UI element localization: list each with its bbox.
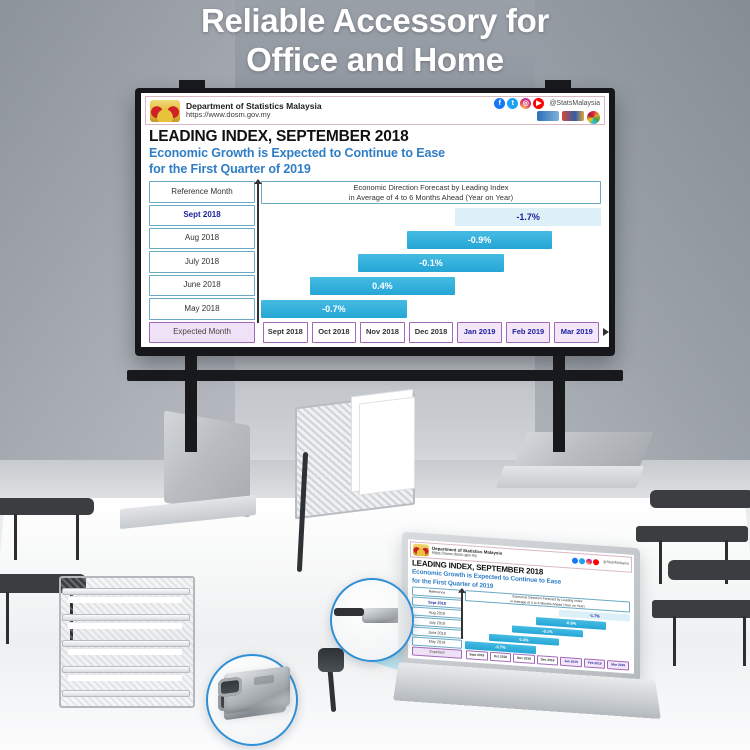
chair-seat — [652, 600, 750, 618]
forecast-bar: -0.1% — [358, 254, 504, 272]
malaysia-coat-of-arms-icon — [413, 543, 429, 556]
twitter-icon[interactable]: t — [507, 98, 518, 109]
laptop-foreground: Department of Statistics Malaysia https:… — [396, 540, 666, 740]
tray-paper — [68, 674, 182, 681]
mesh-file-holder — [295, 393, 415, 520]
organizer-tray — [62, 588, 190, 595]
reference-month-cell: June 2018 — [149, 275, 255, 296]
laptop-base — [496, 466, 644, 488]
chair-leg — [6, 592, 9, 644]
tv-stand-post-right — [553, 356, 565, 452]
social-handle: @StatsMalaysia — [603, 561, 629, 566]
x-tick-month: Nov 2018 — [366, 328, 399, 336]
laptop-lid: Department of Statistics Malaysia https:… — [402, 532, 640, 683]
forecast-bar: -0.7% — [261, 300, 407, 318]
reference-header-line-1: Reference — [171, 188, 208, 197]
laptop-on-desk-right — [500, 432, 650, 502]
laptop-port-edge — [398, 584, 414, 662]
slide-header-titles: Department of Statistics Malaysia https:… — [186, 101, 494, 120]
forecast-bar: 0.4% — [310, 277, 456, 295]
chair-leg — [14, 514, 17, 560]
facebook-icon[interactable]: f — [494, 98, 505, 109]
tv-stand-crossbar — [127, 370, 623, 381]
y-axis-line — [257, 183, 259, 323]
reference-month-cell: July 2018 — [149, 251, 255, 272]
instagram-icon — [586, 559, 592, 565]
tray-paper — [68, 622, 182, 629]
x-axis-tick: Dec 2018 — [537, 655, 559, 665]
forecast-bar: -1.7% — [455, 208, 601, 226]
social-icon-row: @StatsMalaysia — [572, 558, 629, 568]
twitter-icon — [579, 558, 585, 564]
x-tick-month: Mar 2019 — [561, 328, 593, 336]
x-axis-tick: Nov 2018 — [513, 654, 535, 664]
laptop-screen: Department of Statistics Malaysia https:… — [408, 539, 634, 674]
x-tick-month: Sept 2018 — [469, 653, 484, 657]
partner-logo-2-icon — [562, 111, 584, 121]
laptop-chart-area: Reference Sept 2018 Aug 2018 July 2018 J… — [410, 586, 632, 671]
slide-header: Department of Statistics Malaysia https:… — [145, 96, 605, 125]
organizer-tray — [62, 640, 190, 647]
plot-legend-line-1: Economic Direction Forecast by Leading I… — [353, 183, 508, 193]
chair-right-near — [652, 560, 750, 664]
organizer-tray — [62, 614, 190, 621]
bar-row: -0.1% — [261, 253, 601, 274]
slide-title: LEADING INDEX, SEPTEMBER 2018 — [149, 129, 605, 145]
x-axis-tick: Sept 2018 — [263, 322, 308, 343]
sdg-wheel-icon — [587, 111, 600, 124]
plot-legend: Economic Direction Forecast by Leading I… — [261, 181, 601, 204]
tray-paper — [68, 596, 182, 603]
plot-column: Economic Direction Forecast by Leading I… — [261, 181, 601, 343]
x-tick-month: Feb 2019 — [512, 328, 544, 336]
x-axis-tick: Nov 2018 — [360, 322, 405, 343]
reference-month-column: Reference Sept 2018 Aug 2018 July 2018 J… — [412, 587, 462, 659]
x-axis-tick: Jan 2019 — [560, 657, 582, 667]
adapter-cable — [334, 608, 364, 616]
tv-assembly: Department of Statistics Malaysia https:… — [135, 88, 615, 388]
slide-subtitle-line-1: Economic Growth is Expected to Continue … — [149, 146, 605, 161]
chair-left-far — [0, 498, 99, 578]
x-axis-month-row: Sept 2018 Oct 2018 Nov 2018 Dec 2018 — [261, 322, 601, 343]
reference-month-cell: May 2018 — [149, 298, 255, 319]
expected-month-header: Expected Month — [149, 322, 255, 343]
social-handle: @StatsMalaysia — [549, 100, 600, 107]
partner-logo-1-icon — [537, 111, 559, 121]
x-tick-month: Jan 2019 — [564, 660, 577, 664]
x-tick-month: Mar 2019 — [611, 663, 625, 667]
reference-month-column: Reference Month Sept 2018 Aug 2018 July … — [149, 181, 255, 343]
x-tick-month: Oct 2018 — [318, 328, 349, 336]
laptop-lid — [512, 432, 653, 470]
page-headline: Reliable Accessory for Office and Home — [0, 2, 750, 79]
forecast-bar: -0.9% — [407, 231, 553, 249]
organizer-tray — [62, 666, 190, 673]
x-tick-month: Sept 2018 — [268, 328, 303, 336]
reference-month-cell: Aug 2018 — [149, 228, 255, 249]
youtube-icon[interactable]: ▶ — [533, 98, 544, 109]
tv-bezel: Department of Statistics Malaysia https:… — [135, 88, 615, 356]
tray-paper — [68, 648, 182, 655]
chair-leg — [673, 616, 676, 666]
headline-line-2: Office and Home — [0, 41, 750, 80]
x-tick-month: Dec 2018 — [415, 328, 448, 336]
dosm-slide: Department of Statistics Malaysia https:… — [141, 93, 609, 347]
reference-header-line-2: Month — [210, 188, 232, 197]
expected-header-line-1: Expected — [430, 650, 445, 655]
organization-url: https://www.dosm.gov.my — [186, 111, 494, 120]
x-axis-tick: Dec 2018 — [409, 322, 454, 343]
headline-line-1: Reliable Accessory for — [0, 2, 750, 41]
mesh-paper-tray-organizer — [62, 580, 192, 720]
reference-month-cell: Sept 2018 — [149, 205, 255, 226]
chair-backrest — [0, 498, 94, 515]
usb-c-female-port — [218, 677, 242, 698]
plot-column: Economic Direction Forecast by Leading I… — [465, 590, 630, 670]
x-tick-month: Feb 2019 — [588, 662, 602, 666]
reference-header-line-1: Reference — [429, 590, 446, 595]
y-axis-line — [461, 592, 463, 639]
malaysia-coat-of-arms-icon — [150, 100, 180, 122]
rack-document — [359, 397, 415, 496]
x-tick-month: Dec 2018 — [541, 658, 555, 662]
laptop-social-block: @StatsMalaysia — [572, 558, 629, 568]
slide-subtitle-line-2: for the First Quarter of 2019 — [149, 162, 605, 177]
bar-row: -0.9% — [261, 229, 601, 250]
bar-row: -0.7% — [261, 299, 601, 320]
chair-backrest — [650, 490, 750, 508]
social-block: f t ◎ ▶ @StatsMalaysia — [494, 98, 600, 124]
facebook-icon — [572, 558, 578, 564]
chair-leg — [76, 514, 79, 560]
x-axis-tick: Sept 2018 — [466, 650, 488, 660]
x-axis-tick: Mar 2019 — [554, 322, 599, 343]
tv-stand-post-left — [185, 356, 197, 452]
chair-backrest — [668, 560, 750, 580]
expected-header-line-1: Expected — [173, 328, 206, 337]
x-axis-tick: Feb 2019 — [584, 659, 606, 669]
hdmi-connector-head — [318, 648, 344, 672]
organizer-tray — [62, 690, 190, 697]
expected-header-line-2: Month — [209, 328, 231, 337]
chair-leg — [743, 616, 746, 666]
bar-row: 0.4% — [261, 276, 601, 297]
adapter-connected-closeup — [330, 578, 414, 662]
social-icon-row: f t ◎ ▶ @StatsMalaysia — [494, 98, 600, 109]
partner-logo-row — [494, 111, 600, 124]
usb-c-to-hdmi-adapter-product — [214, 664, 296, 716]
youtube-icon — [593, 559, 599, 565]
laptop-slide-mirror: Department of Statistics Malaysia https:… — [408, 539, 634, 674]
plot-legend-line-2: in Average of 4 to 6 Months Ahead (Year … — [349, 193, 513, 203]
chart-area: Reference Month Sept 2018 Aug 2018 July … — [145, 181, 605, 344]
x-axis-arrow-icon — [603, 328, 609, 336]
reference-month-header: Reference Month — [149, 181, 255, 202]
x-tick-month: Jan 2019 — [464, 328, 496, 336]
tv-screen: Department of Statistics Malaysia https:… — [141, 93, 609, 347]
x-axis-tick: Jan 2019 — [457, 322, 502, 343]
x-axis-tick: Oct 2018 — [312, 322, 357, 343]
bar-row: -1.7% — [261, 206, 601, 227]
instagram-icon[interactable]: ◎ — [520, 98, 531, 109]
x-tick-month: Oct 2018 — [494, 655, 507, 659]
x-axis-tick: Feb 2019 — [506, 322, 551, 343]
x-axis-tick: Oct 2018 — [490, 652, 512, 662]
x-axis-tick: Mar 2019 — [607, 660, 629, 670]
x-tick-month: Nov 2018 — [517, 657, 531, 661]
